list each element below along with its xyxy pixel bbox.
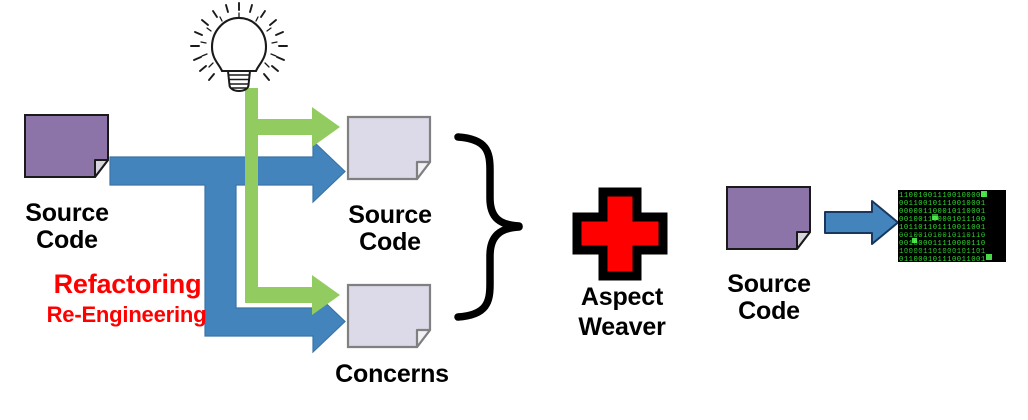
document-source-code-output (348, 117, 430, 179)
svg-text:101101101110011001: 101101101110011001 (899, 224, 986, 232)
document-source-code-input (25, 115, 108, 177)
plus-icon (577, 192, 663, 276)
label-reengineering: Re-Engineering (14, 303, 239, 327)
svg-text:001100101110010001: 001100101110010001 (899, 200, 986, 208)
green-idea-arrow (245, 88, 340, 315)
svg-text:001000011110000110: 001000011110000110 (899, 240, 986, 248)
binary-image: 110010011100100000 001100101110010001 00… (898, 190, 1006, 264)
label-concerns: Concerns (322, 361, 462, 388)
green-branch-upper (245, 107, 340, 147)
document-concerns-output (348, 285, 430, 347)
curly-brace-icon (458, 137, 519, 317)
weave-arrow (825, 201, 898, 244)
svg-text:001001100001011100: 001001100001011100 (899, 216, 986, 224)
diagram-canvas: 110010011100100000 001100101110010001 00… (0, 0, 1028, 420)
label-source-code-woven: SourceCode (710, 271, 828, 325)
label-source-code-input: SourceCode (8, 200, 126, 254)
document-source-code-woven (727, 187, 810, 249)
diagram-graphics: 110010011100100000 001100101110010001 00… (0, 0, 1028, 420)
label-refactoring: Refactoring (20, 270, 235, 299)
lightbulb-icon (191, 3, 287, 91)
svg-text:011000101110011001: 011000101110011001 (899, 256, 986, 264)
label-aspect-weaver: AspectWeaver (557, 283, 687, 342)
label-source-code-output: SourceCode (331, 202, 449, 256)
